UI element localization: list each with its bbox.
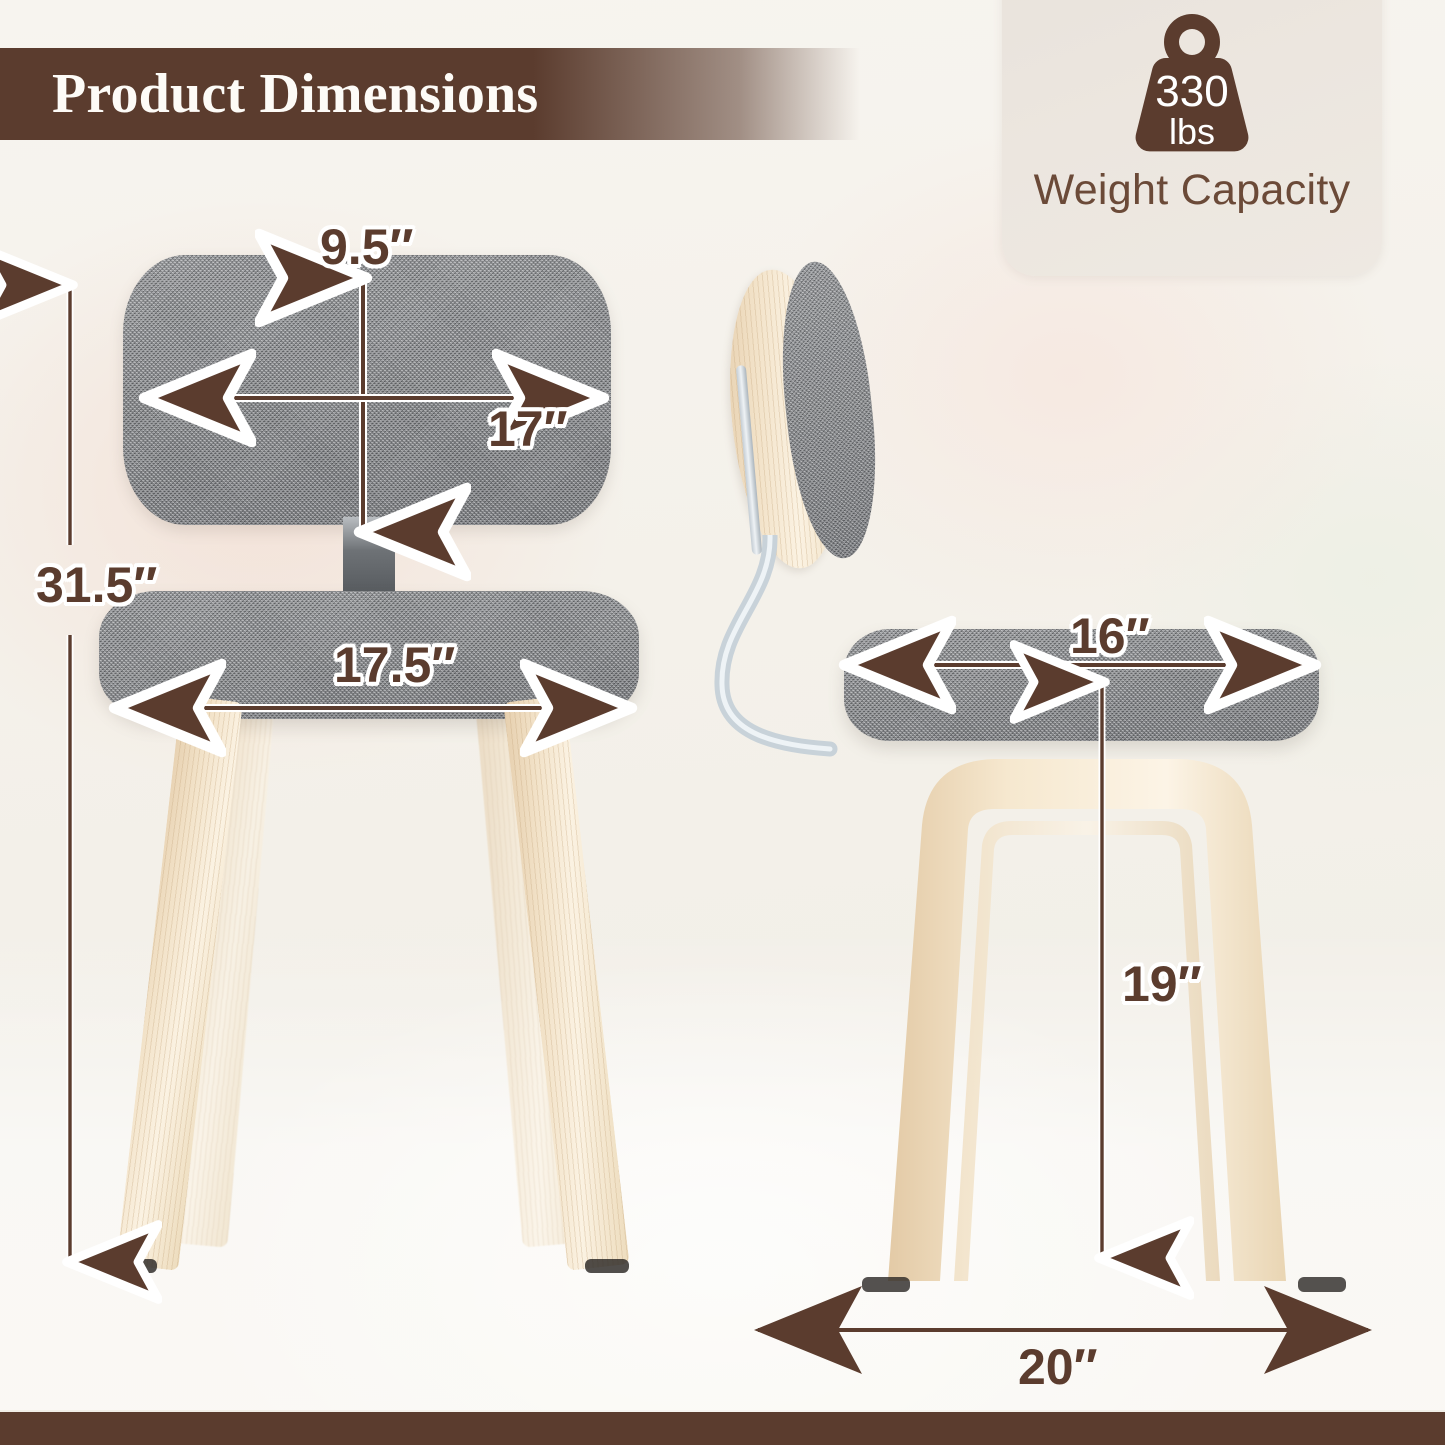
side-foot-cap-left xyxy=(862,1277,910,1292)
weight-capacity-label: Weight Capacity xyxy=(1034,166,1351,215)
weight-value: 330 xyxy=(1155,67,1228,116)
foot-cap-left xyxy=(113,1259,157,1273)
side-leg-arch xyxy=(862,725,1310,1285)
title-banner: Product Dimensions xyxy=(0,48,860,140)
weight-icon: 330 lbs xyxy=(1122,6,1262,156)
weight-capacity-badge: 330 lbs Weight Capacity xyxy=(1002,0,1382,276)
weight-unit: lbs xyxy=(1169,111,1215,152)
side-view-chair xyxy=(700,255,1360,1265)
backrest-support-post xyxy=(343,517,395,597)
front-backrest xyxy=(123,255,611,525)
foot-cap-right xyxy=(585,1259,629,1273)
front-view-chair xyxy=(85,255,660,1265)
page-title: Product Dimensions xyxy=(0,62,538,126)
side-foot-cap-right xyxy=(1298,1277,1346,1292)
footer-bar xyxy=(0,1412,1445,1445)
